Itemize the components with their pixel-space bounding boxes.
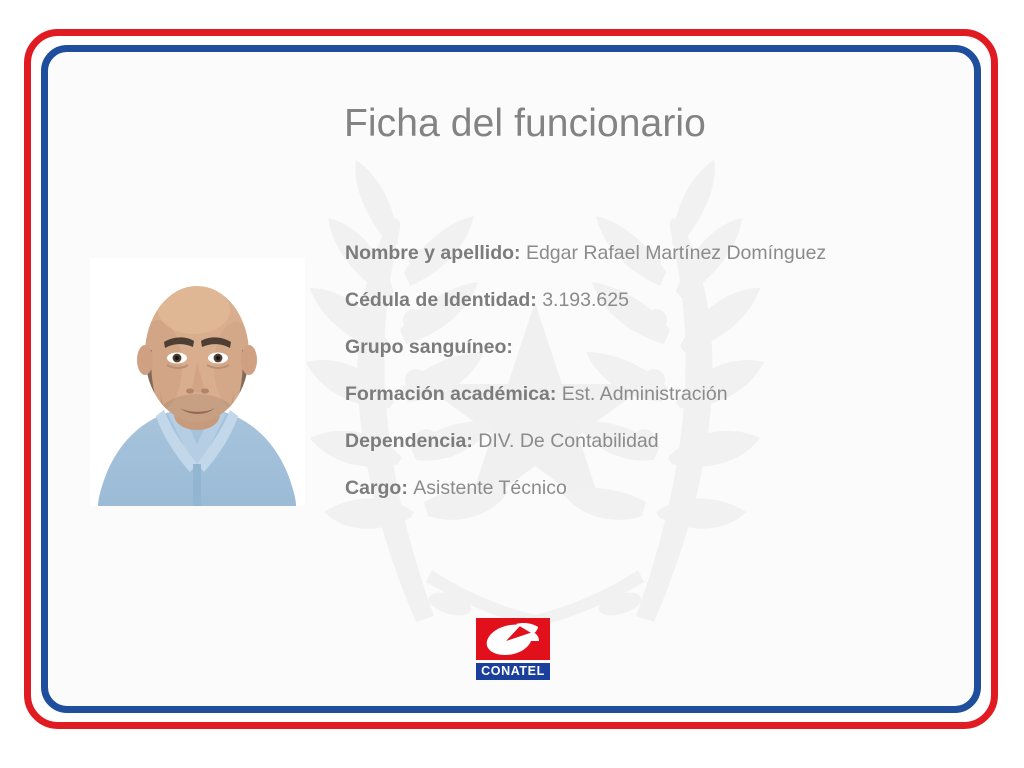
field-label: Grupo sanguíneo: bbox=[345, 336, 513, 358]
employee-details-list: Nombre y apellido: Edgar Rafael Martínez… bbox=[345, 238, 945, 520]
field-row: Nombre y apellido: Edgar Rafael Martínez… bbox=[345, 238, 945, 285]
field-value: DIV. De Contabilidad bbox=[478, 430, 658, 452]
field-row: Formación académica: Est. Administración bbox=[345, 379, 945, 426]
field-row: Grupo sanguíneo: bbox=[345, 332, 945, 379]
conatel-wordmark: CONATEL bbox=[476, 663, 550, 680]
field-label: Dependencia: bbox=[345, 430, 478, 452]
slide-root: Ficha del funcionario bbox=[0, 0, 1024, 768]
field-value: 3.193.625 bbox=[542, 289, 629, 311]
field-row: Cargo: Asistente Técnico bbox=[345, 473, 945, 520]
field-label: Formación académica: bbox=[345, 383, 562, 405]
field-value: Est. Administración bbox=[562, 383, 728, 405]
field-value: Edgar Rafael Martínez Domínguez bbox=[526, 242, 826, 264]
field-value: Asistente Técnico bbox=[413, 477, 567, 499]
field-label: Cédula de Identidad: bbox=[345, 289, 542, 311]
field-row: Cédula de Identidad: 3.193.625 bbox=[345, 285, 945, 332]
conatel-swoosh-icon bbox=[476, 618, 550, 660]
page-title: Ficha del funcionario bbox=[344, 102, 706, 146]
employee-photo bbox=[90, 258, 305, 506]
field-row: Dependencia: DIV. De Contabilidad bbox=[345, 426, 945, 473]
conatel-logo: CONATEL bbox=[476, 618, 550, 680]
field-label: Nombre y apellido: bbox=[345, 242, 526, 264]
field-label: Cargo: bbox=[345, 477, 413, 499]
